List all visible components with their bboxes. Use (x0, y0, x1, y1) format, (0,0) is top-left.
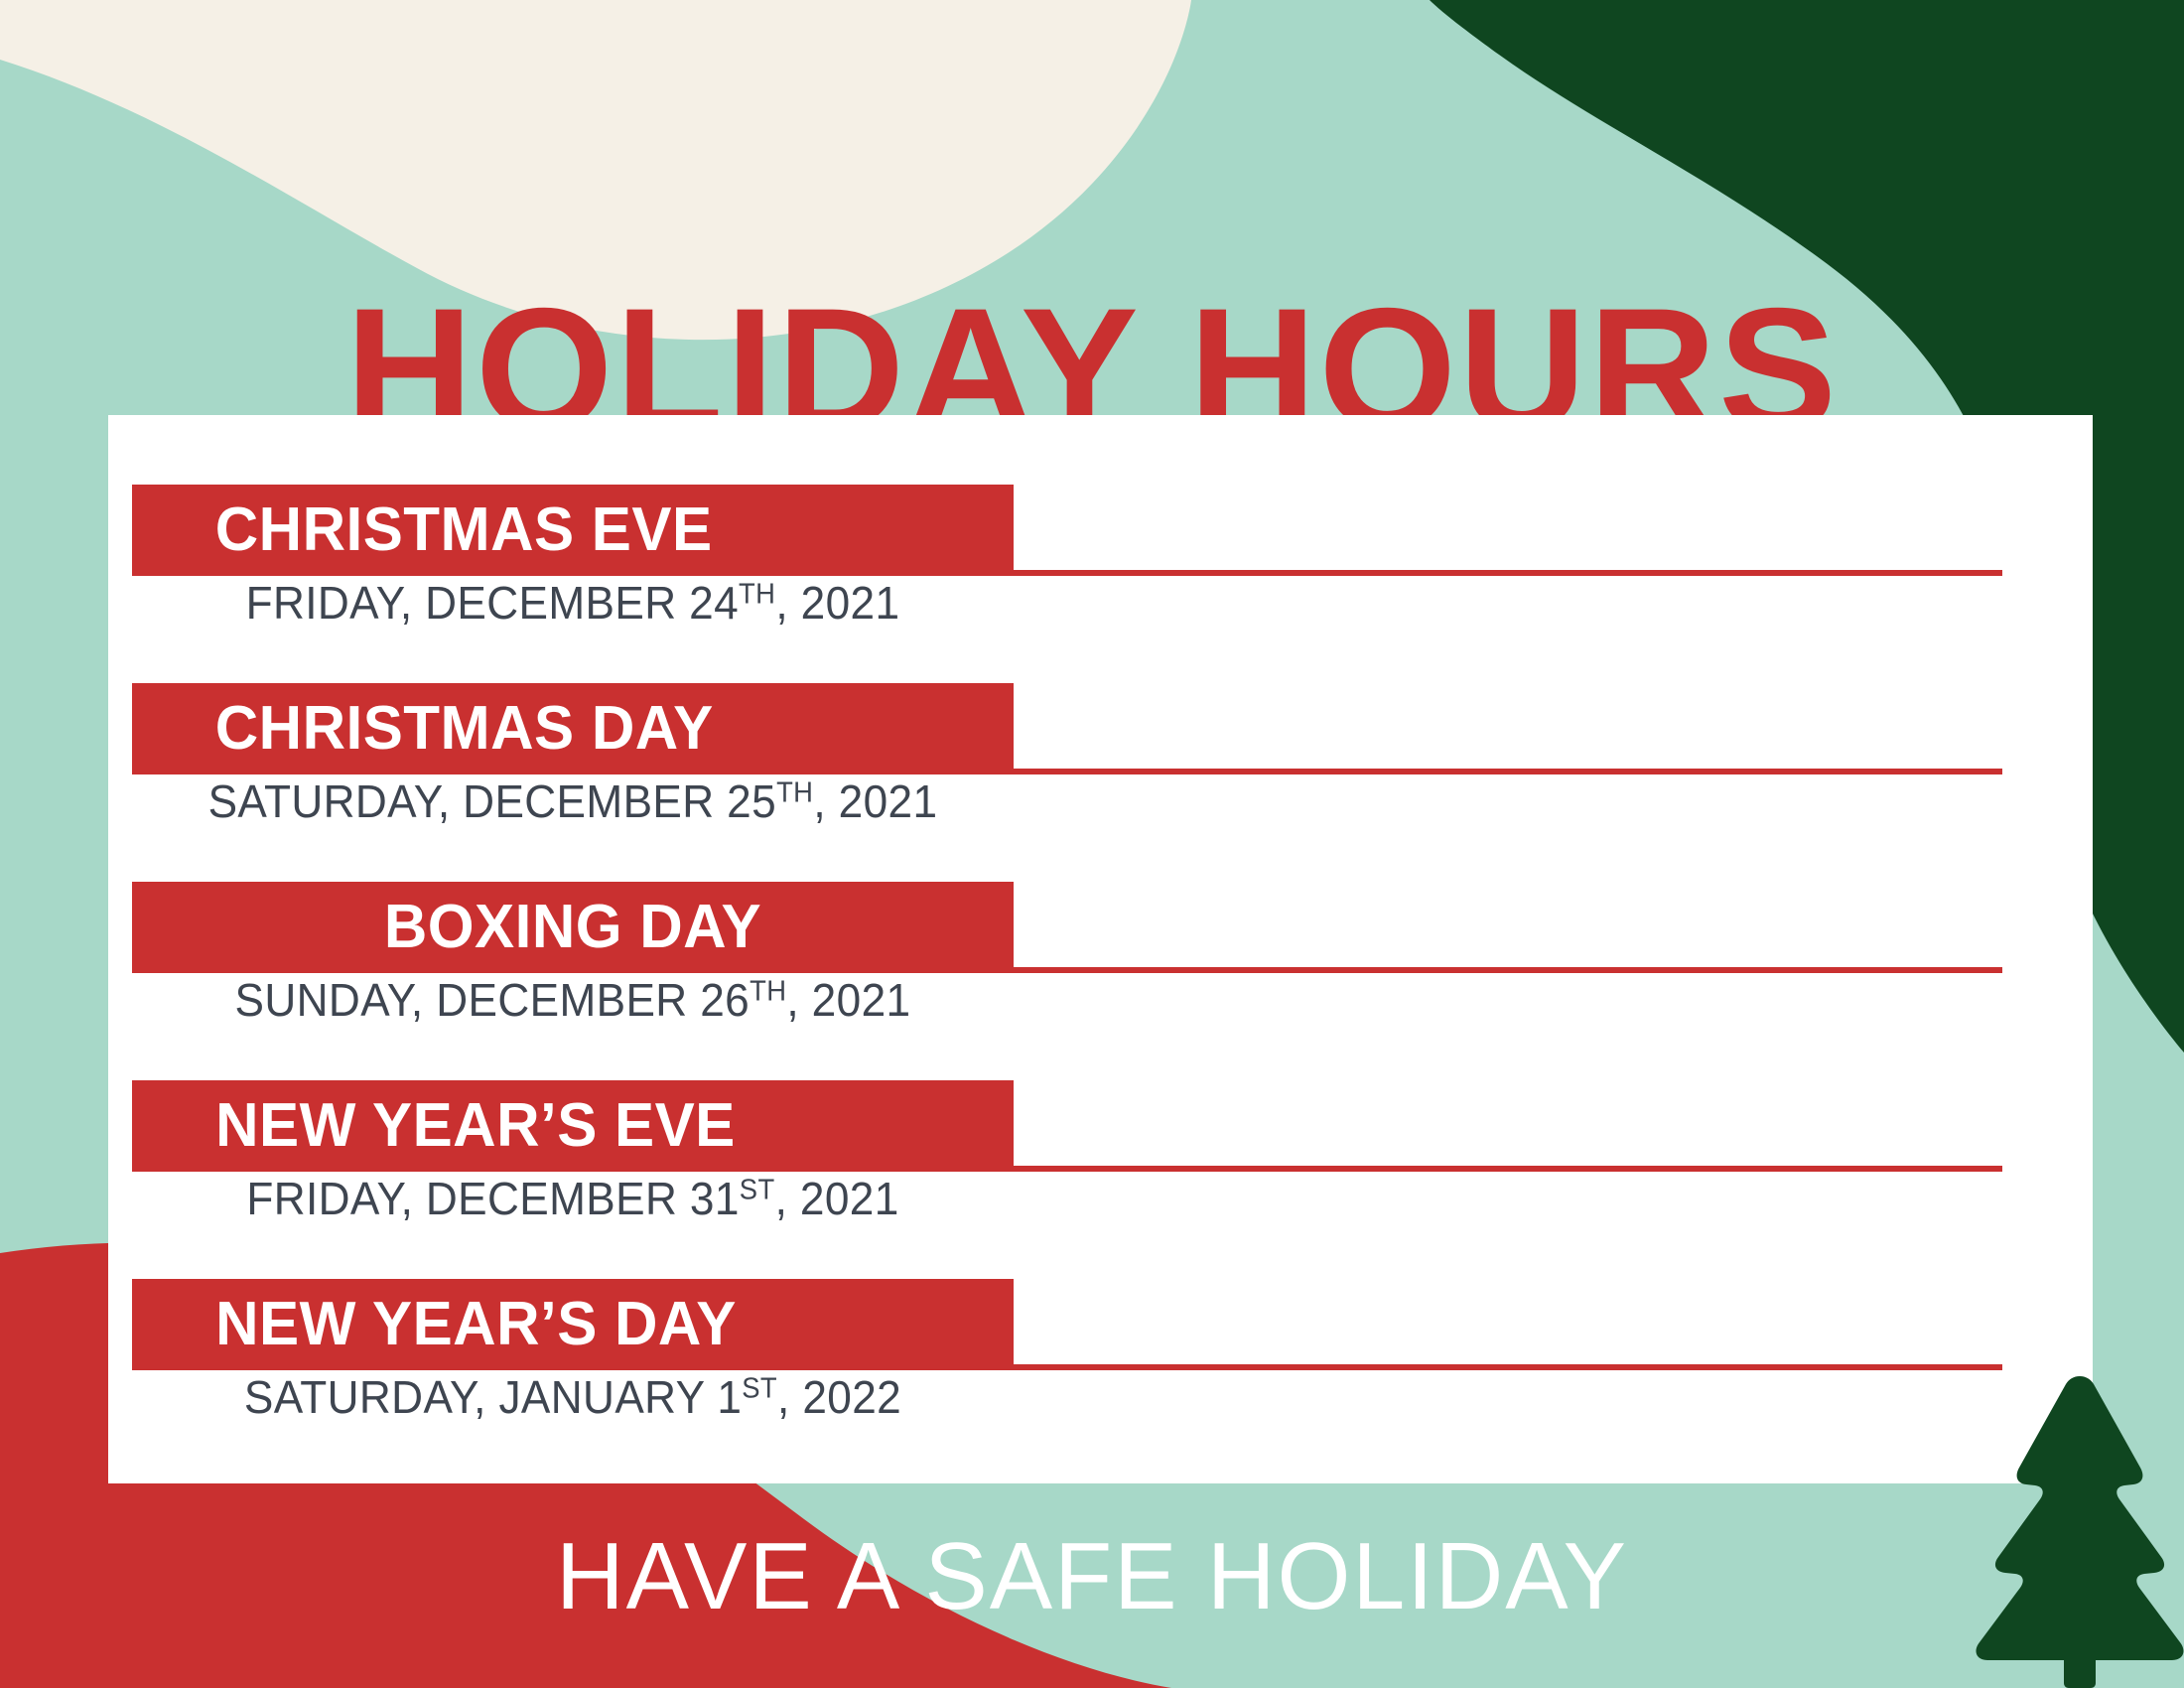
tagline: HAVE A SAFE HOLIDAY (11, 1529, 2173, 1624)
date-prefix: SATURDAY, JANUARY 1 (244, 1371, 742, 1423)
hours-rule-line (1014, 1364, 2002, 1370)
holiday-banner: NEW YEAR’S DAY (132, 1279, 1014, 1370)
date-ordinal: TH (739, 578, 775, 610)
holiday-banner: CHRISTMAS DAY (132, 683, 1014, 774)
table-row: CHRISTMAS EVE FRIDAY, DECEMBER 24TH, 202… (108, 415, 2093, 614)
holiday-name: NEW YEAR’S EVE (215, 1095, 736, 1157)
table-row: BOXING DAY SUNDAY, DECEMBER 26TH, 2021 (108, 812, 2093, 1011)
holiday-hours-poster: HOLIDAY HOURS CHRISTMAS EVE FRIDAY, DECE… (0, 0, 2184, 1688)
hours-rule-line (1014, 769, 2002, 774)
date-ordinal: ST (742, 1372, 777, 1404)
hours-rule-line (1014, 1166, 2002, 1172)
date-ordinal: TH (750, 975, 786, 1007)
holiday-banner: CHRISTMAS EVE (132, 485, 1014, 576)
hours-rule-line (1014, 967, 2002, 973)
holiday-date: SATURDAY, JANUARY 1ST, 2022 (150, 1372, 996, 1423)
holiday-name: NEW YEAR’S DAY (215, 1294, 737, 1355)
table-row: NEW YEAR’S DAY SATURDAY, JANUARY 1ST, 20… (108, 1209, 2093, 1420)
holiday-name: BOXING DAY (384, 897, 761, 958)
holiday-name: CHRISTMAS EVE (215, 499, 713, 561)
holiday-banner: BOXING DAY (132, 882, 1014, 973)
schedule-card: CHRISTMAS EVE FRIDAY, DECEMBER 24TH, 202… (108, 415, 2093, 1483)
holiday-banner: NEW YEAR’S EVE (132, 1080, 1014, 1172)
holiday-name: CHRISTMAS DAY (215, 698, 714, 760)
table-row: NEW YEAR’S EVE FRIDAY, DECEMBER 31ST, 20… (108, 1011, 2093, 1209)
table-row: CHRISTMAS DAY SATURDAY, DECEMBER 25TH, 2… (108, 614, 2093, 812)
date-ordinal: ST (740, 1174, 775, 1205)
hours-rule-line (1014, 570, 2002, 576)
date-ordinal: TH (776, 776, 813, 808)
date-suffix: , 2022 (777, 1371, 901, 1423)
